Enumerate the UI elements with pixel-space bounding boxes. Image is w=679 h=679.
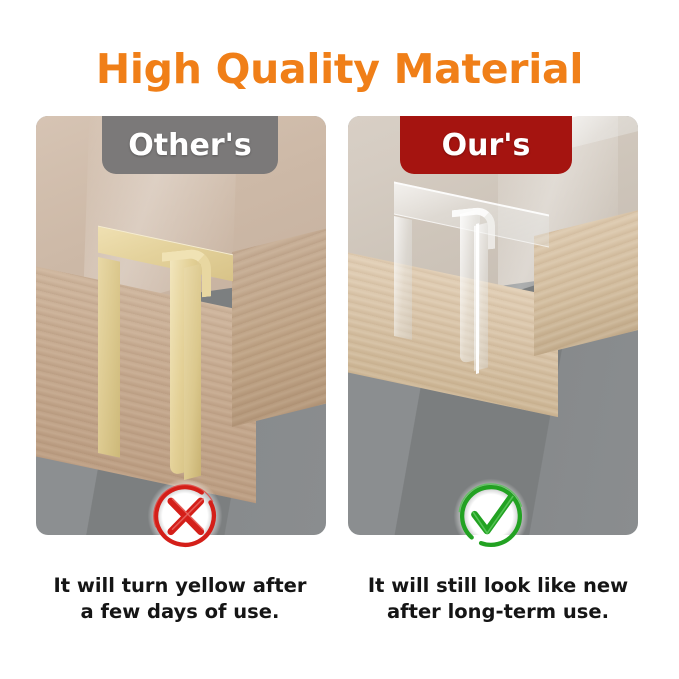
product-comparison-image: High Quality Material Other's xyxy=(0,0,679,679)
page-title: High Quality Material xyxy=(0,44,679,94)
clear-edge-guard-highlight xyxy=(476,223,479,374)
green-check-icon xyxy=(452,477,530,555)
caption-ours: It will still look like new after long-t… xyxy=(348,573,648,625)
comparison-panel-ours xyxy=(348,116,638,535)
caption-other-line-2: a few days of use. xyxy=(30,599,330,625)
yellowed-edge-guard-side xyxy=(184,264,201,480)
caption-ours-line-2: after long-term use. xyxy=(348,599,648,625)
caption-ours-line-1: It will still look like new xyxy=(348,573,648,599)
yellowed-edge-guard-front xyxy=(98,257,120,458)
badge-ours: Our's xyxy=(400,116,572,174)
comparison-panel-other xyxy=(36,116,326,535)
badge-other: Other's xyxy=(102,116,278,174)
caption-other: It will turn yellow after a few days of … xyxy=(30,573,330,625)
red-cross-icon xyxy=(146,477,224,555)
clear-edge-guard-front xyxy=(394,216,412,340)
caption-other-line-1: It will turn yellow after xyxy=(30,573,330,599)
